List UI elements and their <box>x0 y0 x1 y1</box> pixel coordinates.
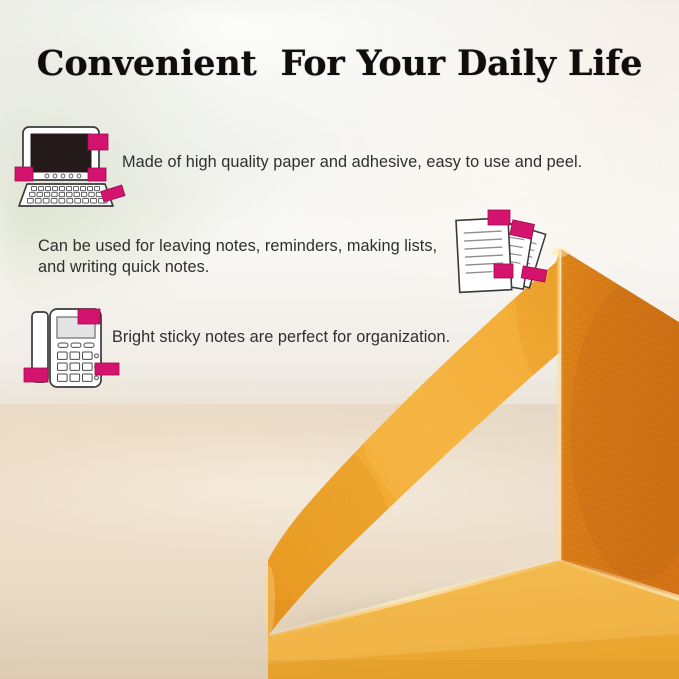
note-sheet-front <box>456 218 512 293</box>
page-title: Convenient For Your Daily Life <box>0 43 679 84</box>
feature-text-organization: Bright sticky notes are perfect for orga… <box>112 327 450 348</box>
desk-phone-icon <box>24 306 128 390</box>
laptop-icon <box>14 118 132 208</box>
laptop-screen <box>31 134 91 172</box>
notepaper-icon <box>450 208 556 306</box>
feature-text-quality: Made of high quality paper and adhesive,… <box>122 152 582 173</box>
stack-vertical-ridge <box>556 249 563 561</box>
feature-text-uses: Can be used for leaving notes, reminders… <box>38 236 458 278</box>
phone-soft-keys <box>58 343 94 347</box>
phone-keypad <box>58 352 99 381</box>
product-feature-graphic: Convenient For Your Daily Life <box>0 0 679 679</box>
laptop-keyboard <box>19 184 113 206</box>
